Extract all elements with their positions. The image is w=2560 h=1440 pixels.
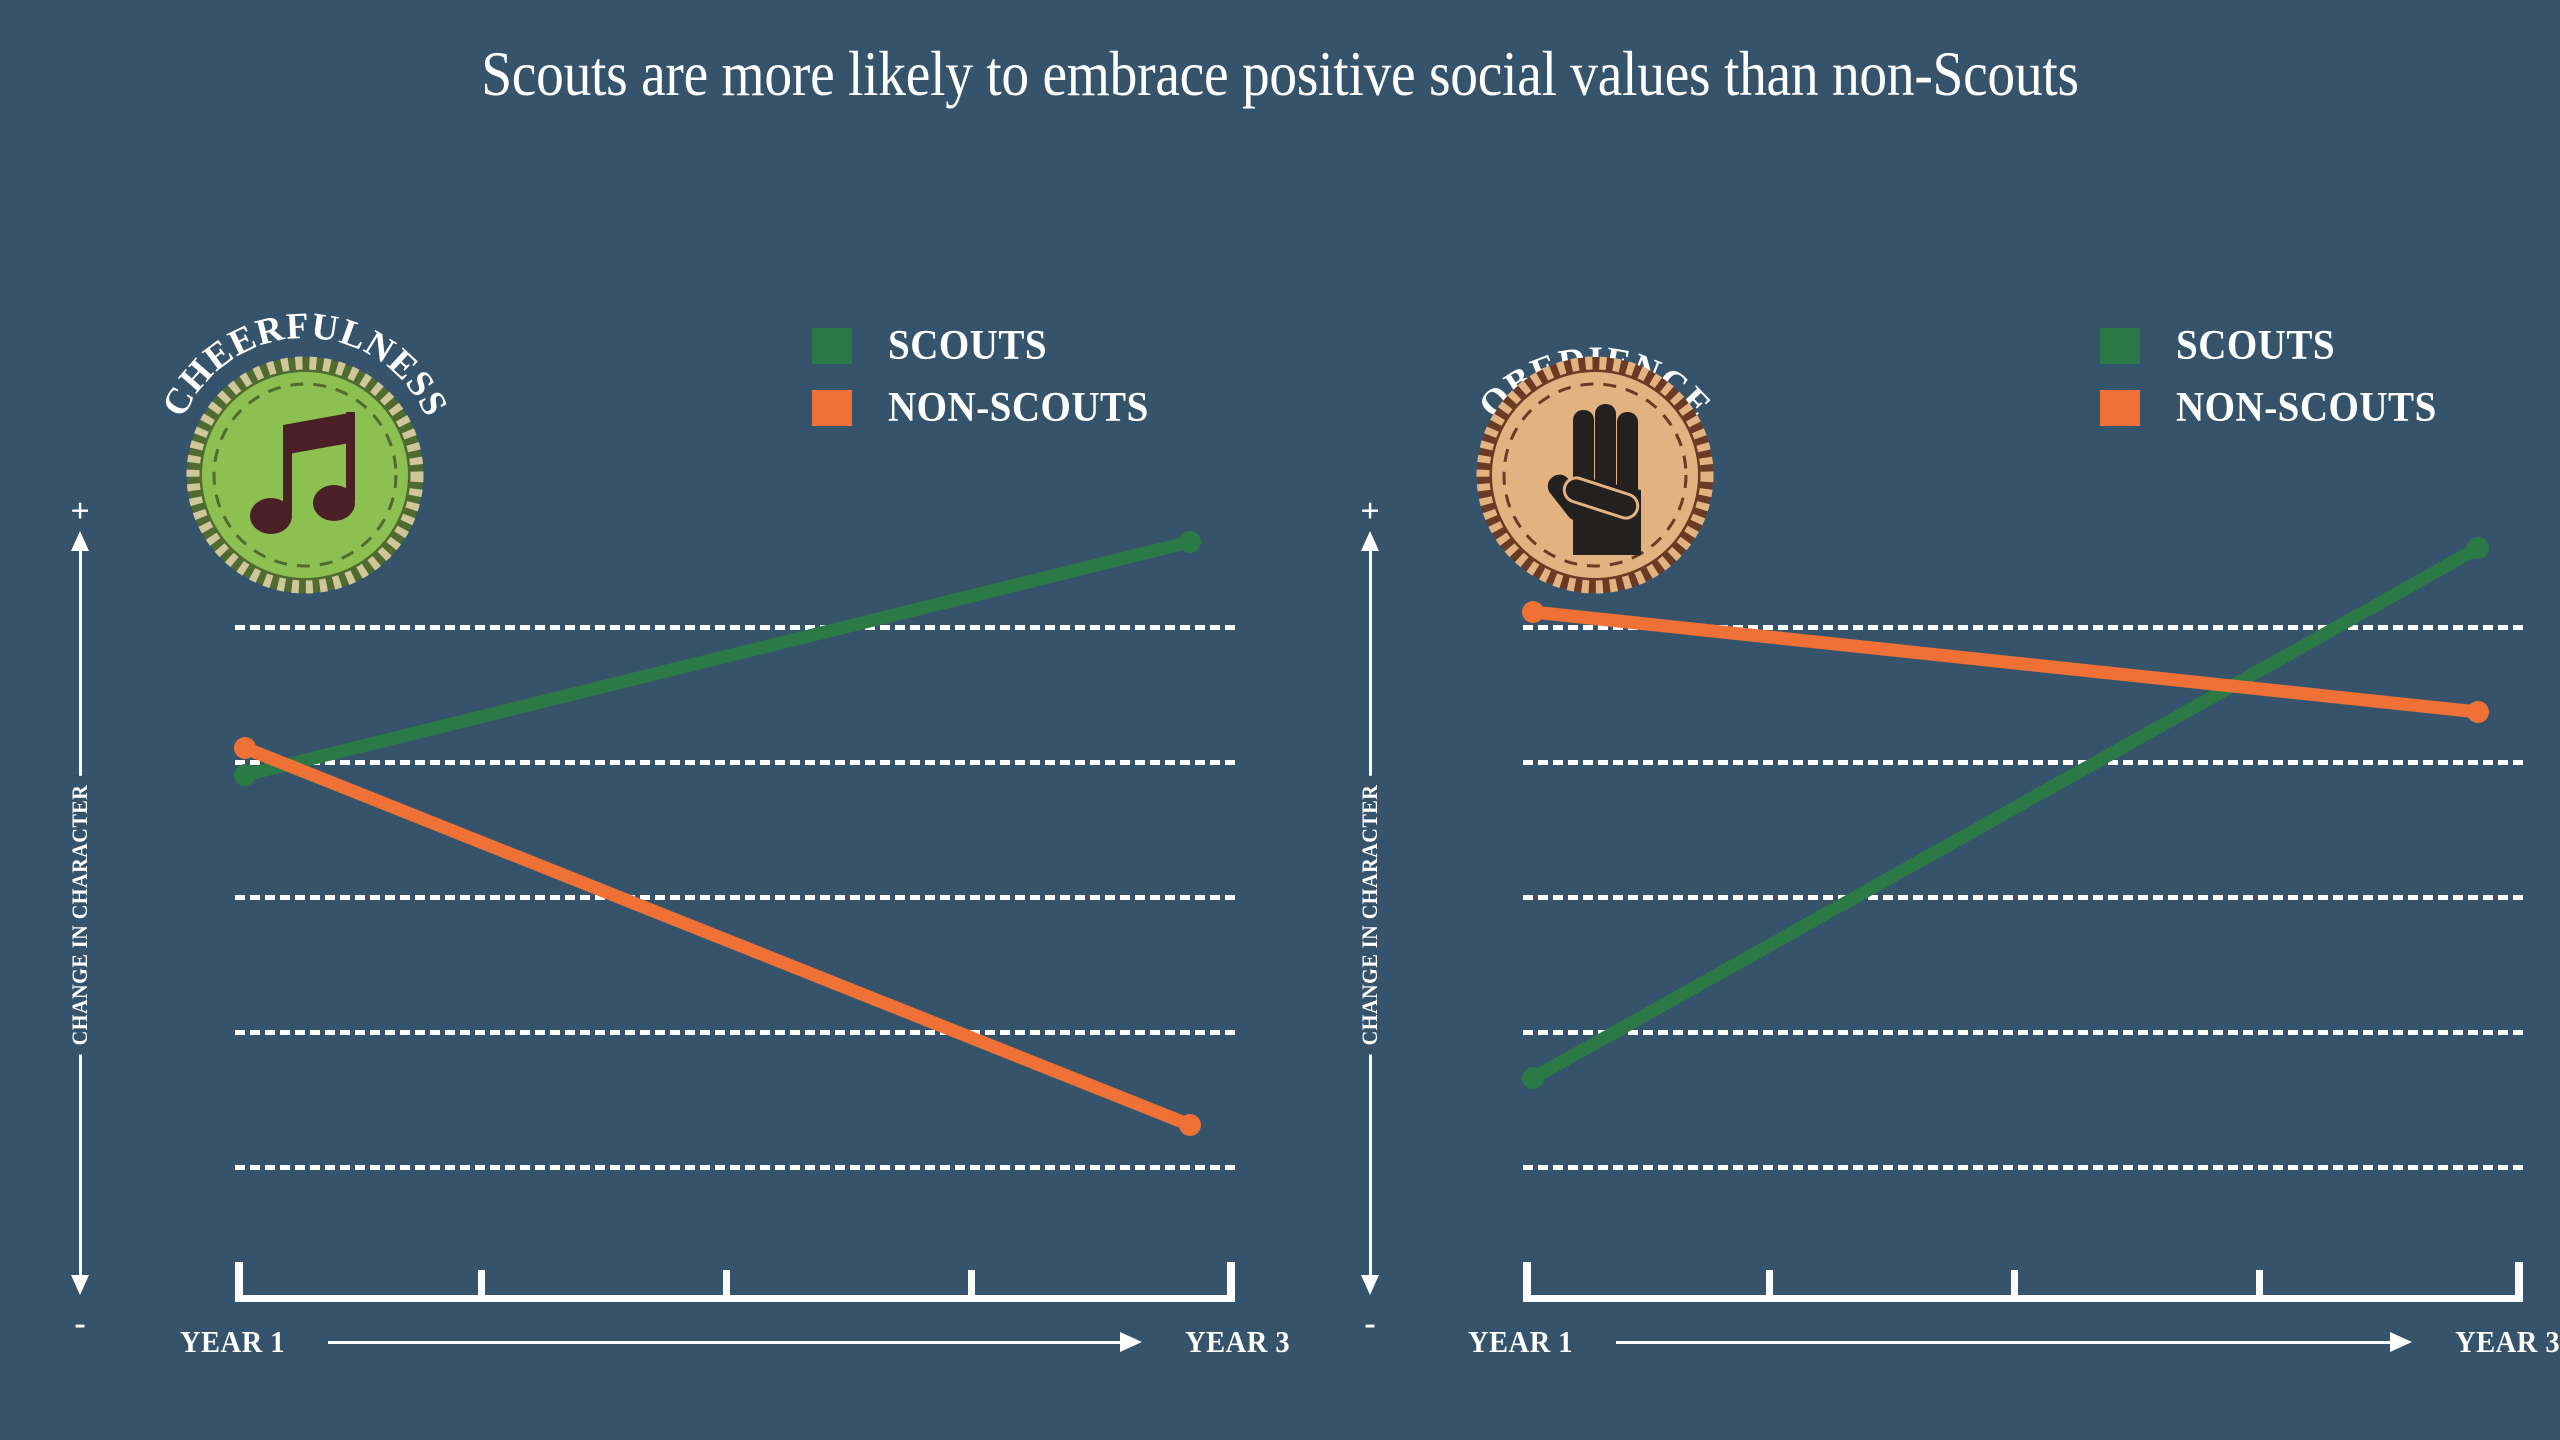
series-non-scouts-cheerfulness (234, 737, 1201, 1136)
x-axis-labels-obedience: YEAR 1 YEAR 3 (1468, 1322, 2560, 1362)
x-axis-tick (968, 1270, 975, 1302)
series-lines-cheerfulness (235, 560, 1235, 1220)
plot-area-cheerfulness (235, 560, 1235, 1220)
series-lines-obedience (1523, 560, 2523, 1220)
x-axis-obedience (1523, 1262, 2523, 1302)
legend-label-scouts: SCOUTS (888, 322, 1047, 370)
x-axis-tick (2011, 1270, 2018, 1302)
x-axis-tick (1523, 1262, 1531, 1302)
x-axis-direction-arrow-icon (1616, 1332, 2412, 1352)
legend-label-non-scouts: NON-SCOUTS (888, 384, 1149, 432)
x-axis-start-label: YEAR 1 (1468, 1324, 1573, 1360)
x-axis-end-label: YEAR 3 (2455, 1324, 2560, 1360)
legend-item-scouts[interactable]: SCOUTS (812, 322, 1168, 370)
x-axis-tick (1227, 1262, 1235, 1302)
plot-area-obedience (1523, 560, 2523, 1220)
x-axis-direction-arrow-icon (328, 1332, 1142, 1352)
legend-swatch-non-scouts (2100, 390, 2140, 426)
x-axis-tick (2515, 1262, 2523, 1302)
badge-obedience: OBEDIENCE (1445, 300, 1745, 600)
badge-cheerfulness: CHEERFULNESS (155, 300, 455, 600)
x-axis-tick (478, 1270, 485, 1302)
x-axis-labels-cheerfulness: YEAR 1 YEAR 3 (180, 1322, 1290, 1362)
y-axis-plus-symbol: + (1340, 495, 1400, 529)
x-axis-start-label: YEAR 1 (180, 1324, 285, 1360)
legend-cheerfulness: SCOUTS NON-SCOUTS (812, 322, 1168, 446)
legend-item-non-scouts[interactable]: NON-SCOUTS (2100, 384, 2456, 432)
legend-swatch-non-scouts (812, 390, 852, 426)
legend-label-non-scouts: NON-SCOUTS (2176, 384, 2437, 432)
infographic-canvas: Scouts are more likely to embrace positi… (0, 0, 2560, 1440)
legend-obedience: SCOUTS NON-SCOUTS (2100, 322, 2456, 446)
y-axis-plus-symbol: + (50, 495, 110, 529)
legend-swatch-scouts (812, 328, 852, 364)
x-axis-baseline (235, 1295, 1235, 1302)
panel-cheerfulness: + - CHANGE IN CHARACTER (0, 0, 1290, 1440)
x-axis-baseline (1523, 1295, 2523, 1302)
y-axis-down-arrow-icon (71, 1275, 89, 1295)
x-axis-tick (2256, 1270, 2263, 1302)
badge-face (202, 372, 408, 578)
legend-item-non-scouts[interactable]: NON-SCOUTS (812, 384, 1168, 432)
y-axis-cheerfulness: + - CHANGE IN CHARACTER (50, 495, 110, 1335)
x-axis-tick (723, 1270, 730, 1302)
y-axis-minus-symbol: - (1340, 1307, 1400, 1341)
x-axis-tick (1766, 1270, 1773, 1302)
x-axis-end-label: YEAR 3 (1185, 1324, 1290, 1360)
x-axis-tick (235, 1262, 243, 1302)
legend-item-scouts[interactable]: SCOUTS (2100, 322, 2456, 370)
y-axis-label: CHANGE IN CHARACTER (67, 775, 93, 1054)
panel-obedience: + - CHANGE IN CHARACTER (1290, 0, 2560, 1440)
y-axis-obedience: + - CHANGE IN CHARACTER (1340, 495, 1400, 1335)
legend-label-scouts: SCOUTS (2176, 322, 2335, 370)
y-axis-down-arrow-icon (1361, 1275, 1379, 1295)
y-axis-label: CHANGE IN CHARACTER (1357, 775, 1383, 1054)
legend-swatch-scouts (2100, 328, 2140, 364)
y-axis-minus-symbol: - (50, 1307, 110, 1341)
x-axis-cheerfulness (235, 1262, 1235, 1302)
